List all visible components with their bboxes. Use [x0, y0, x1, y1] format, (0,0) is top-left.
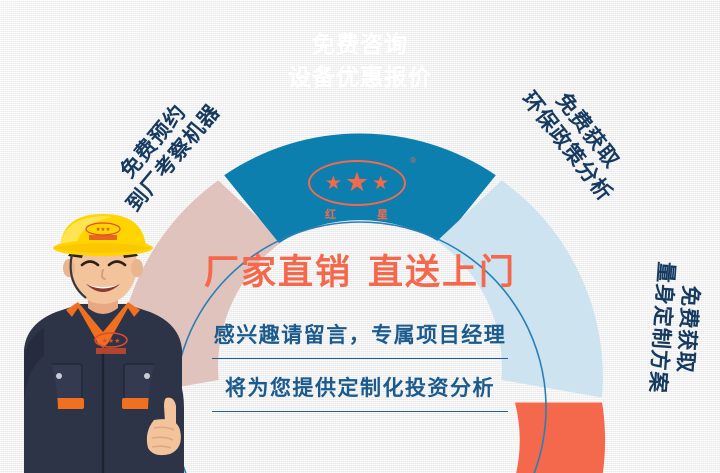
- center-content: ★ ★ ★ ® 红 星 厂家直销直送上门 感兴趣请留言，专属项目经理 将为您提供…: [178, 150, 542, 410]
- logo-brand-name: 红 星: [305, 206, 409, 222]
- worker-photo: ★★★: [8, 212, 213, 473]
- divider-2: [212, 411, 508, 412]
- brand-logo: ★ ★ ★ ® 红 星: [305, 158, 415, 230]
- subline-1: 感兴趣请留言，专属项目经理: [178, 319, 542, 349]
- divider-1: [212, 358, 508, 359]
- svg-text:★★★: ★★★: [102, 337, 121, 345]
- logo-stars: ★ ★ ★: [308, 160, 406, 206]
- segment-free-custom-plan[interactable]: [515, 403, 605, 473]
- headline: 厂家直销直送上门: [178, 244, 542, 295]
- headline-part-2: 直送上门: [368, 253, 516, 292]
- logo-name-char-1: 红: [325, 206, 337, 222]
- star-icon: ★: [345, 169, 369, 196]
- star-icon: ★: [325, 174, 342, 193]
- logo-name-char-2: 星: [377, 206, 389, 222]
- promo-banner: 免费预约 到厂考察机器 免费咨询 设备优惠报价 免费获取 环保政策分析 免费获取…: [0, 0, 720, 473]
- registered-mark-icon: ®: [410, 156, 416, 165]
- headline-part-1: 厂家直销: [204, 253, 352, 292]
- subline-2: 将为您提供定制化投资分析: [178, 372, 542, 402]
- svg-text:★★★: ★★★: [96, 226, 111, 233]
- star-icon: ★: [372, 174, 389, 193]
